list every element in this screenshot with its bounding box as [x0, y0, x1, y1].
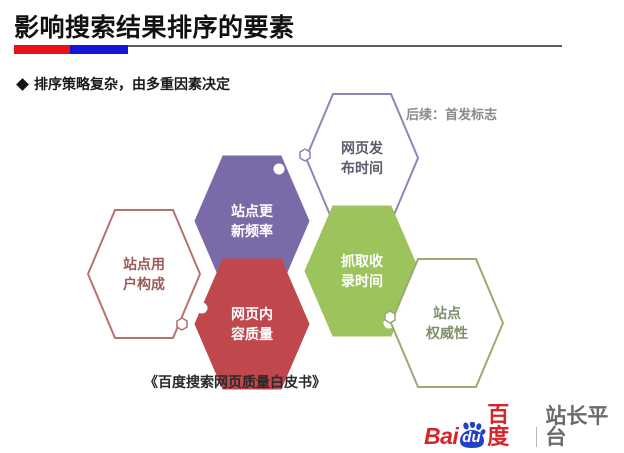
hexagon-user-composition-shape: [86, 208, 202, 340]
baidu-paw-icon: du: [458, 422, 486, 448]
hexagon-site-authority-shape: [389, 257, 505, 389]
hexagon-content-quality-shape: [194, 258, 310, 390]
baidu-logo-subbrand: 站长平台: [545, 406, 624, 448]
baidu-logo-bai-text: Bai: [424, 425, 458, 448]
source-caption: 《百度搜索网页质量白皮书》: [0, 372, 470, 392]
hexagon-user-composition[interactable]: 站点用 户构成: [86, 208, 202, 340]
slide-canvas: 影响搜索结果排序的要素 排序策略复杂，由多重因素决定 网页发 布时间: [0, 0, 624, 453]
hexagon-site-authority[interactable]: 站点 权威性: [389, 257, 505, 389]
logo-divider: [536, 427, 537, 447]
baidu-logo-du-text: du: [462, 430, 480, 445]
baidu-logo-hanzi: 百度: [487, 404, 528, 448]
baidu-logo: Bai du 百度 站长平台: [424, 422, 624, 448]
hexagon-content-quality[interactable]: 网页内 容质量: [194, 258, 310, 390]
annotation-text: 后续：首发标志: [406, 104, 497, 123]
